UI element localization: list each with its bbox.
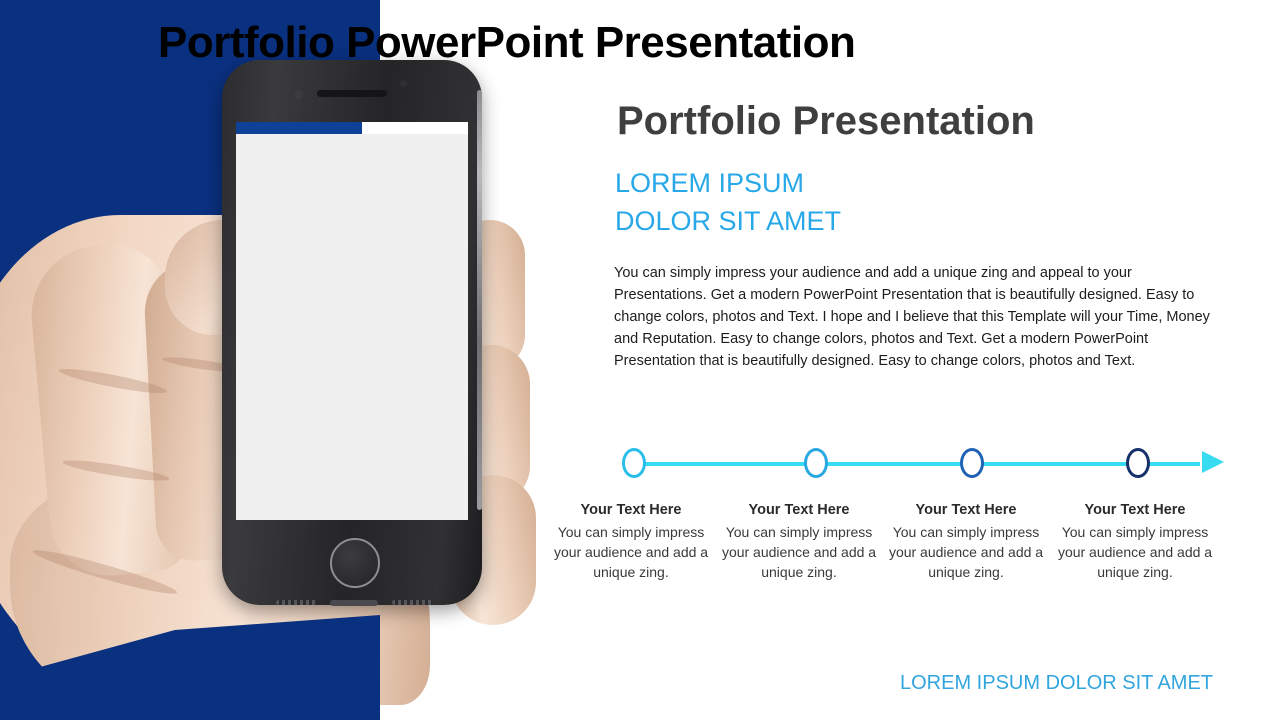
- smartphone-device: [222, 60, 482, 605]
- column-title: Your Text Here: [1050, 502, 1220, 518]
- column-body: You can simply impress your audience and…: [881, 523, 1051, 583]
- column-body: You can simply impress your audience and…: [1050, 523, 1220, 583]
- timeline-node-1[interactable]: [622, 448, 646, 478]
- text-column: Your Text Here You can simply impress yo…: [1050, 502, 1220, 583]
- column-title: Your Text Here: [546, 502, 716, 518]
- phone-edge-highlight: [477, 90, 482, 510]
- column-title: Your Text Here: [881, 502, 1051, 518]
- column-body: You can simply impress your audience and…: [546, 523, 716, 583]
- timeline-node-4[interactable]: [1126, 448, 1150, 478]
- charging-port: [330, 600, 378, 606]
- footer-text: LOREM IPSUM DOLOR SIT AMET: [900, 672, 1213, 695]
- timeline-graphic: [608, 443, 1226, 485]
- subtitle-line-1: LOREM IPSUM: [615, 164, 841, 202]
- earpiece-speaker: [317, 90, 387, 97]
- timeline-node-2[interactable]: [804, 448, 828, 478]
- phone-screen-blue-bar: [236, 122, 362, 134]
- content-subtitle: LOREM IPSUM DOLOR SIT AMET: [615, 164, 841, 241]
- column-body: You can simply impress your audience and…: [714, 523, 884, 583]
- page-title: Portfolio PowerPoint Presentation: [158, 18, 855, 68]
- phone-screen-white-bar: [362, 122, 468, 134]
- body-paragraph: You can simply impress your audience and…: [614, 262, 1212, 372]
- timeline-line: [638, 462, 1200, 466]
- presentation-slide: Portfolio PowerPoint Presentation Portfo…: [0, 0, 1280, 720]
- timeline-arrow-icon: [1202, 451, 1224, 473]
- speaker-grill: [276, 600, 316, 605]
- hand-holding-phone-image: [0, 45, 520, 720]
- timeline-node-3[interactable]: [960, 448, 984, 478]
- home-button[interactable]: [330, 538, 380, 588]
- text-column: Your Text Here You can simply impress yo…: [714, 502, 884, 583]
- proximity-sensor-icon: [400, 80, 407, 87]
- phone-screen: [236, 122, 468, 520]
- text-column: Your Text Here You can simply impress yo…: [546, 502, 716, 583]
- subtitle-line-2: DOLOR SIT AMET: [615, 202, 841, 240]
- text-column: Your Text Here You can simply impress yo…: [881, 502, 1051, 583]
- front-camera-icon: [294, 90, 303, 99]
- column-title: Your Text Here: [714, 502, 884, 518]
- speaker-grill: [392, 600, 432, 605]
- content-heading: Portfolio Presentation: [617, 99, 1035, 144]
